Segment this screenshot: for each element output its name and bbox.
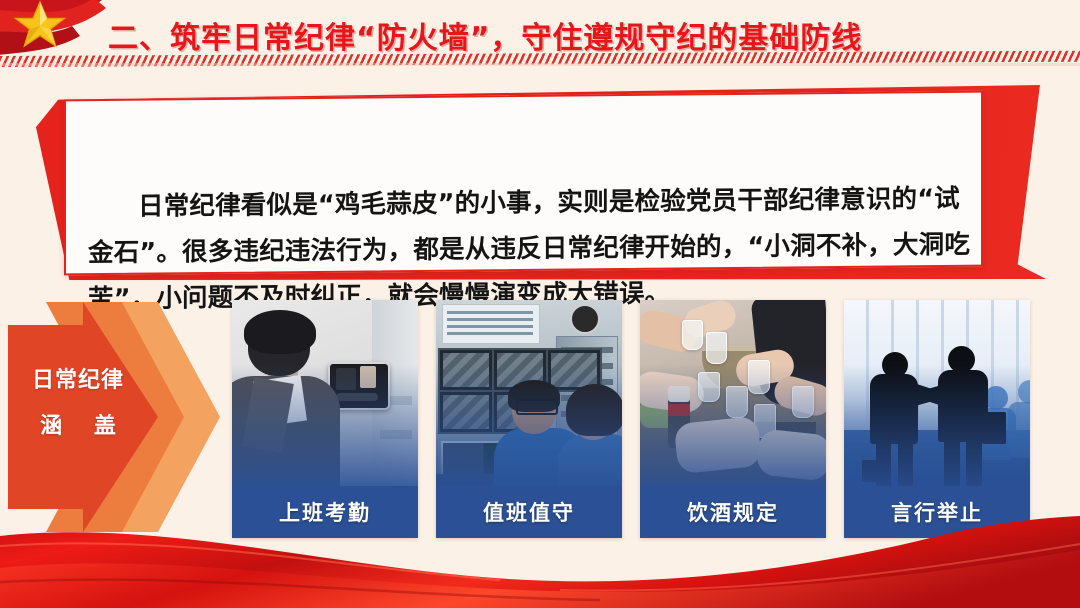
arrow-banner-line2: 涵 盖 <box>14 404 142 450</box>
card-blue-overlay <box>640 364 826 494</box>
page-title: 二、筑牢日常纪律“防火墙”，守住遵规守纪的基础防线 <box>108 13 862 57</box>
arrow-banner: 日常纪律 涵 盖 <box>8 302 223 532</box>
card-blue-overlay <box>844 364 1030 494</box>
photo-card-drinking-rules[interactable]: 饮酒规定 <box>640 300 826 538</box>
photo-card-conduct[interactable]: 言行举止 <box>844 300 1030 538</box>
red-silk-ribbon-decoration <box>0 516 1080 608</box>
header-divider-shadow <box>0 63 1080 66</box>
arrow-banner-line1: 日常纪律 <box>14 358 142 404</box>
card-blue-overlay <box>436 364 622 494</box>
card-blue-overlay <box>232 364 418 494</box>
photo-card-row: 上班考勤 值班值守 <box>232 300 1042 540</box>
quote-callout: 日常纪律看似是“鸡毛蒜皮”的小事，实则是检验党员干部纪律意识的“试金石”。很多违… <box>36 84 1046 284</box>
photo-card-attendance[interactable]: 上班考勤 <box>232 300 418 538</box>
slide-root: 二、筑牢日常纪律“防火墙”，守住遵规守纪的基础防线 日常纪律看似是“鸡毛蒜皮”的… <box>0 0 1080 608</box>
photo-card-duty-watch[interactable]: 值班值守 <box>436 300 622 538</box>
arrow-banner-label: 日常纪律 涵 盖 <box>14 358 142 450</box>
slide-header: 二、筑牢日常纪律“防火墙”，守住遵规守纪的基础防线 <box>0 0 1080 72</box>
